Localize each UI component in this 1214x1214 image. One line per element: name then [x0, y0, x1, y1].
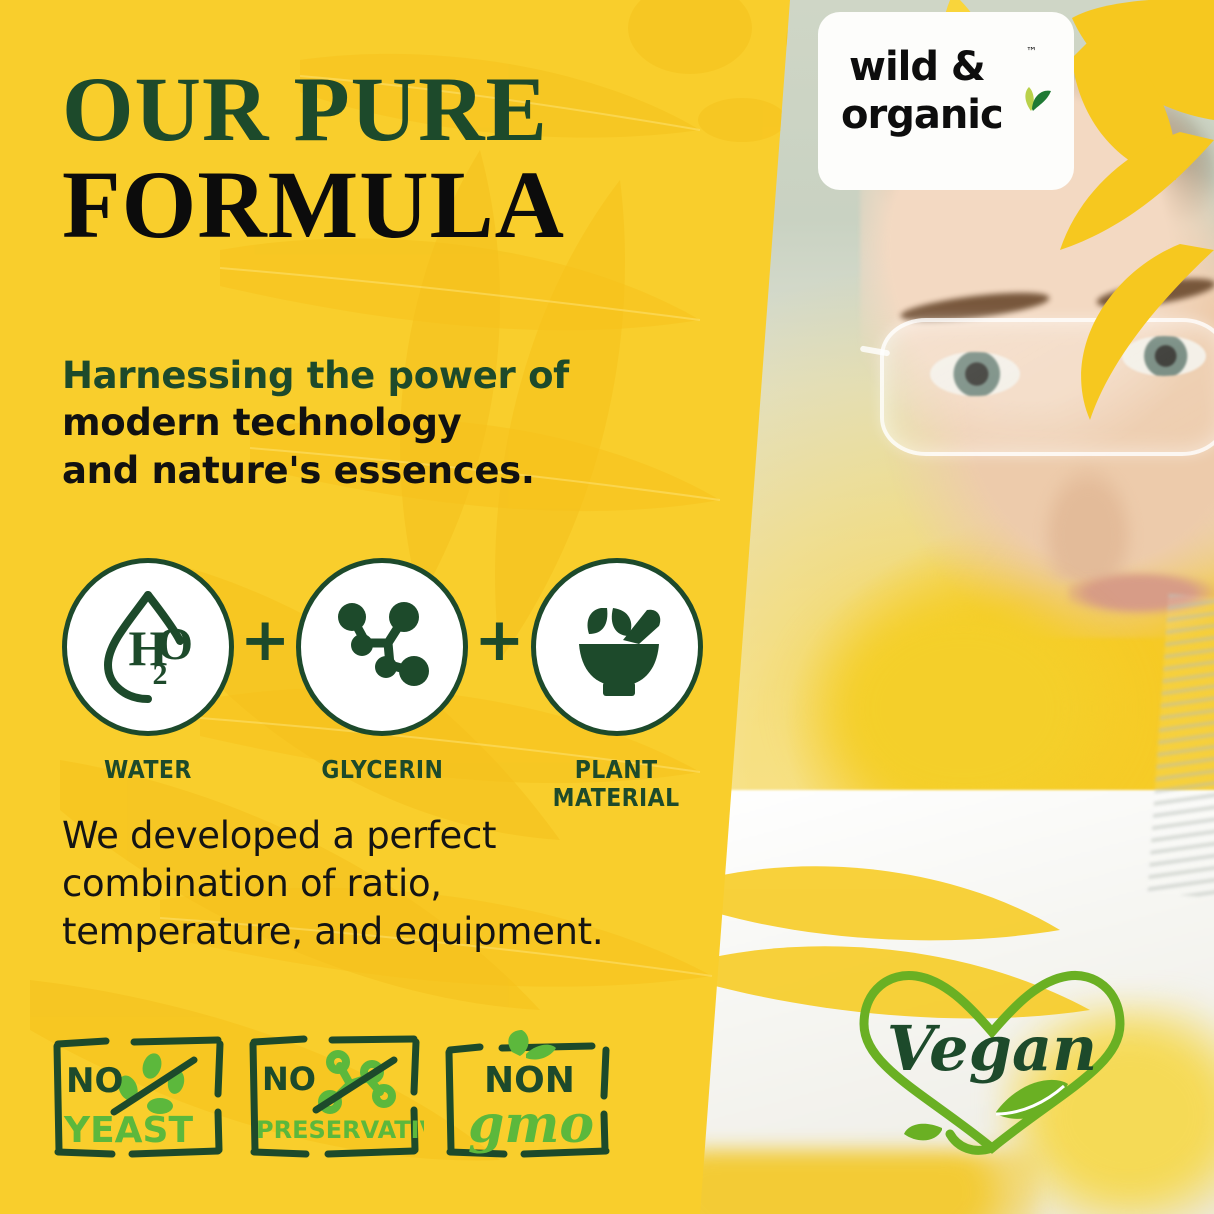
body-line-3: temperature, and equipment. — [62, 908, 662, 956]
logo-leaf-icon — [1009, 81, 1053, 121]
body-line-1: We developed a perfect — [62, 812, 662, 860]
headline-line-2: FORMULA — [62, 158, 722, 252]
plus-sign-1: + — [240, 610, 290, 670]
subhead-line-2: modern technology — [62, 399, 662, 446]
headline-line-1: OUR PURE — [62, 64, 722, 154]
heart-vine-leaf-icon: Vegan — [846, 962, 1136, 1168]
badge-no-yeast: NO YEAST — [48, 1030, 228, 1160]
brand-logo: wild & organic ™ — [818, 12, 1074, 190]
ingredient-label-glycerin: GLYCERIN — [321, 756, 443, 784]
vegan-label: Vegan — [887, 1012, 1097, 1085]
page-title: OUR PURE FORMULA — [62, 64, 722, 252]
vegan-badge: Vegan — [846, 962, 1136, 1168]
subhead-line-3: and nature's essences. — [62, 447, 662, 494]
badge-no-preservatives: NO PRESERVATIVES — [244, 1030, 424, 1160]
badge-non-gmo: NON gmo — [440, 1030, 620, 1160]
product-marketing-poster: wild & organic ™ OUR PURE FORMULA Harnes… — [0, 0, 1214, 1214]
ingredient-label-plant-material: PLANTMATERIAL — [553, 756, 680, 811]
nose — [1040, 430, 1160, 580]
ingredient-label-water: WATER — [104, 756, 192, 784]
water-drop-h2o-icon: H O 2 — [90, 587, 206, 707]
badge-bottom-yeast: YEAST — [63, 1110, 193, 1151]
ingredient-water: H O 2 WATER — [62, 558, 234, 784]
certification-badges: NO YEAST — [48, 1030, 620, 1160]
molecule-icon — [326, 591, 438, 703]
plant-material-icon-circle — [531, 558, 703, 736]
ingredient-glycerin: GLYCERIN — [296, 558, 468, 784]
subhead-line-1: Harnessing the power of — [62, 352, 662, 399]
ingredients-row: H O 2 WATER + — [62, 558, 703, 811]
plus-sign-2: + — [474, 610, 524, 670]
badge-bottom-preservatives: PRESERVATIVES — [256, 1116, 424, 1144]
ingredient-plant-material: PLANTMATERIAL — [531, 558, 703, 811]
body-paragraph: We developed a perfect combination of ra… — [62, 812, 662, 956]
svg-text:2: 2 — [153, 658, 168, 691]
subheading: Harnessing the power of modern technolog… — [62, 352, 662, 494]
badge-bottom-gmo: gmo — [468, 1094, 594, 1155]
glycerin-icon-circle — [296, 558, 468, 736]
badge-top-no-yeast: NO — [66, 1061, 123, 1101]
trademark-symbol: ™ — [1026, 45, 1037, 58]
badge-top-no-preservatives: NO — [262, 1060, 316, 1098]
water-icon-circle: H O 2 — [62, 558, 234, 736]
body-line-2: combination of ratio, — [62, 860, 662, 908]
mortar-pestle-icon — [561, 592, 673, 702]
